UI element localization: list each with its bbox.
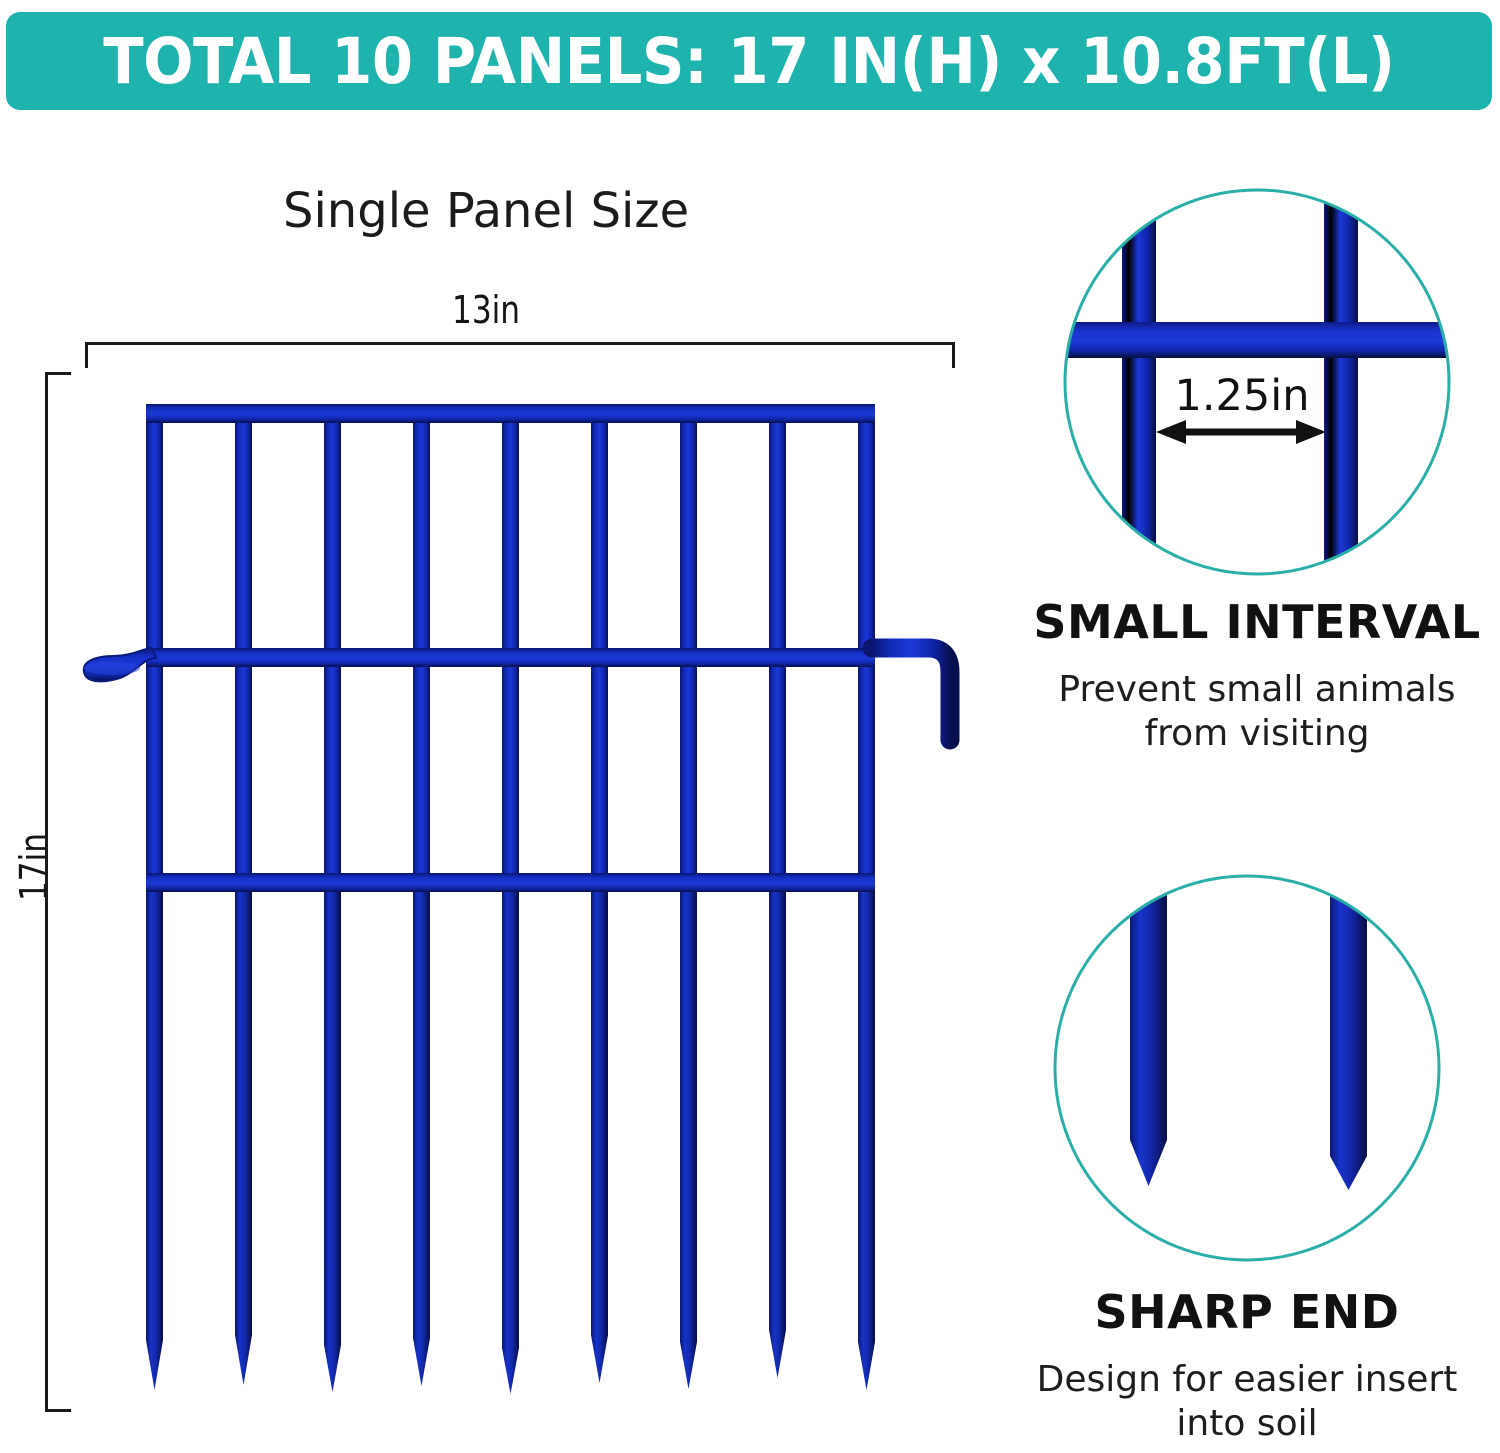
small-interval-description-line2: from visiting	[1022, 712, 1492, 756]
sharp-end-illustration-wrap	[1012, 868, 1482, 1268]
fence-panel-illustration	[60, 390, 1020, 1420]
width-dimension-label: 13in	[452, 288, 520, 332]
interval-measure-label: 1.25in	[1175, 371, 1310, 421]
sharp-end-description-line2: into soil	[1012, 1402, 1482, 1446]
fence-vertical-bars	[146, 404, 875, 890]
header-banner: TOTAL 10 PANELS: 17 IN(H) x 10.8FT(L)	[6, 12, 1492, 110]
width-dimension-line	[85, 342, 955, 368]
interval-horizontal-rail	[1052, 322, 1462, 358]
sharp-end-spikes	[1130, 868, 1367, 1190]
fence-top-rail	[146, 404, 875, 423]
sharp-end-description: Design for easier insert into soil	[1012, 1358, 1482, 1446]
interval-right-bar	[1324, 182, 1358, 582]
sharp-end-heading: SHARP END	[1012, 1288, 1482, 1336]
feature-card-sharp-end: SHARP END Design for easier insert into …	[1012, 868, 1482, 1446]
header-banner-text: TOTAL 10 PANELS: 17 IN(H) x 10.8FT(L)	[103, 30, 1394, 93]
sharp-end-illustration	[1042, 868, 1452, 1268]
sharp-end-left-spike	[1130, 868, 1167, 1186]
sharp-end-right-spike	[1330, 868, 1367, 1190]
small-interval-description: Prevent small animals from visiting	[1022, 668, 1492, 756]
panel-size-title: Single Panel Size	[283, 183, 689, 239]
small-interval-illustration-wrap: 1.25in	[1022, 182, 1492, 582]
sharp-end-description-line1: Design for easier insert	[1012, 1358, 1482, 1402]
small-interval-description-line1: Prevent small animals	[1022, 668, 1492, 712]
sharp-end-circle-outline	[1055, 876, 1439, 1260]
feature-card-small-interval: 1.25in SMALL INTERVAL Prevent small anim…	[1022, 182, 1492, 756]
fence-lower-rail	[146, 873, 875, 892]
fence-left-loop-connector	[84, 648, 156, 681]
small-interval-heading: SMALL INTERVAL	[1022, 598, 1492, 646]
fence-middle-rail	[146, 648, 875, 667]
small-interval-illustration: 1.25in	[1052, 182, 1462, 582]
interval-measure-arrow	[1156, 420, 1326, 444]
fence-right-hook-connector	[872, 648, 950, 740]
fence-spikes	[146, 885, 875, 1394]
